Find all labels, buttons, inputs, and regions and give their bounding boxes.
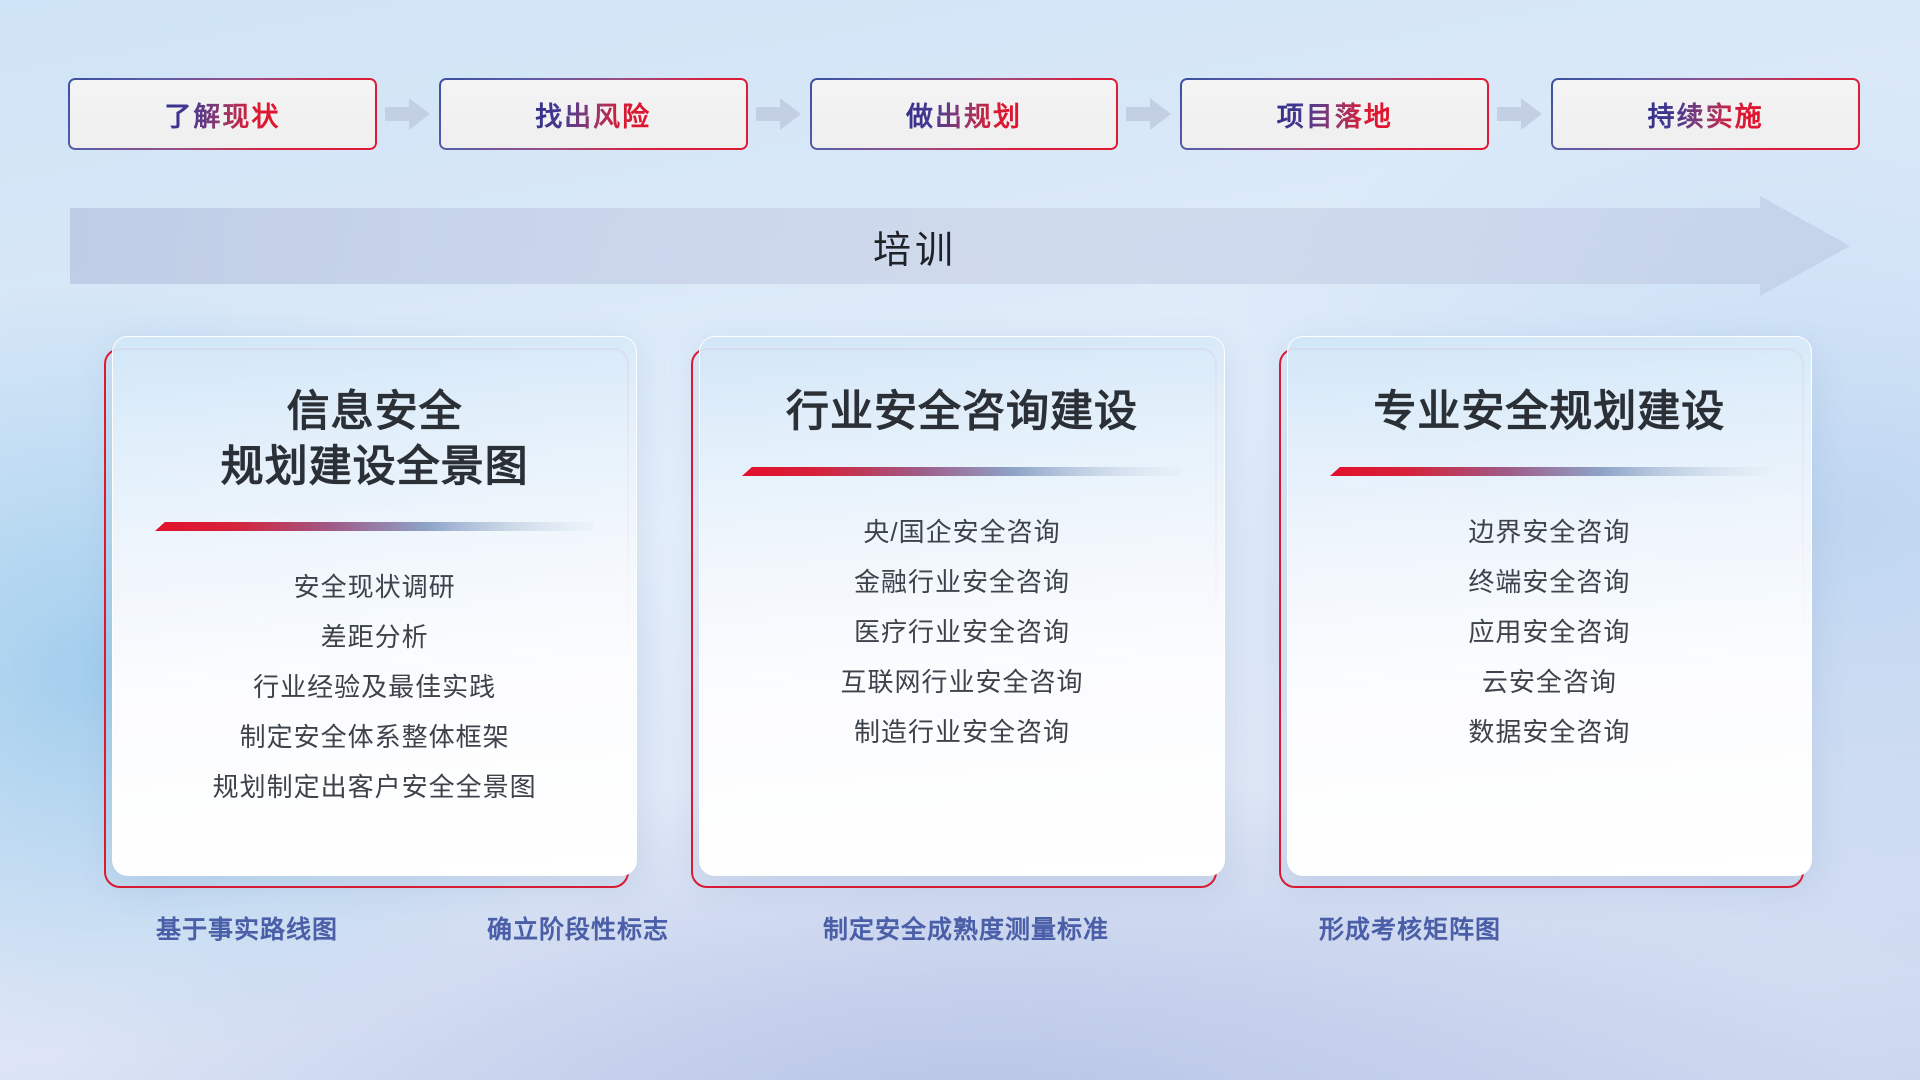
step-label-5: 持续实施 [1648, 95, 1764, 134]
list-item[interactable]: 医疗行业安全咨询 [700, 607, 1223, 657]
card-title-3: 专业安全规划建设 [1373, 385, 1725, 440]
list-item[interactable]: 应用安全咨询 [1288, 607, 1811, 657]
step-connector-3 [1118, 94, 1180, 134]
card-3[interactable]: 专业安全规划建设边界安全咨询终端安全咨询应用安全咨询云安全咨询数据安全咨询 [1287, 336, 1812, 876]
card-list-2: 央/国企安全咨询金融行业安全咨询医疗行业安全咨询互联网行业安全咨询制造行业安全咨… [700, 507, 1223, 757]
list-item[interactable]: 金融行业安全咨询 [700, 557, 1223, 607]
card-divider-3 [1330, 466, 1770, 477]
card-body-3: 专业安全规划建设边界安全咨询终端安全咨询应用安全咨询云安全咨询数据安全咨询 [1287, 336, 1812, 876]
card-2[interactable]: 行业安全咨询建设央/国企安全咨询金融行业安全咨询医疗行业安全咨询互联网行业安全咨… [699, 336, 1224, 876]
caption-row: 基于事实路线图确立阶段性标志制定安全成熟度测量标准形成考核矩阵图 [0, 910, 1920, 970]
card-divider-2 [742, 466, 1182, 477]
card-body-2: 行业安全咨询建设央/国企安全咨询金融行业安全咨询医疗行业安全咨询互联网行业安全咨… [699, 336, 1224, 876]
list-item[interactable]: 数据安全咨询 [1288, 707, 1811, 757]
list-item[interactable]: 制定安全体系整体框架 [113, 712, 636, 762]
list-item[interactable]: 差距分析 [113, 612, 636, 662]
step-connector-2 [748, 94, 810, 134]
list-item[interactable]: 云安全咨询 [1288, 657, 1811, 707]
step-box-2[interactable]: 找出风险 [439, 78, 748, 150]
card-title-1: 信息安全 规划建设全景图 [221, 385, 529, 495]
list-item[interactable]: 行业经验及最佳实践 [113, 662, 636, 712]
caption-1: 基于事实路线图 [156, 910, 338, 946]
card-body-1: 信息安全 规划建设全景图安全现状调研差距分析行业经验及最佳实践制定安全体系整体框… [112, 336, 637, 876]
slide-canvas: 了解现状找出风险做出规划项目落地持续实施 培训 信息安全 规划建设全景图安全现状… [0, 0, 1920, 1080]
caption-3: 制定安全成熟度测量标准 [823, 910, 1109, 946]
banner-title: 培训 [70, 196, 1850, 296]
step-box-3[interactable]: 做出规划 [810, 78, 1119, 150]
card-list-3: 边界安全咨询终端安全咨询应用安全咨询云安全咨询数据安全咨询 [1288, 507, 1811, 757]
list-item[interactable]: 规划制定出客户安全全景图 [113, 762, 636, 812]
gradient-underline-icon [1330, 466, 1770, 477]
step-label-1: 了解现状 [164, 95, 280, 134]
step-box-5[interactable]: 持续实施 [1551, 78, 1860, 150]
card-divider-1 [155, 521, 595, 532]
step-label-3: 做出规划 [906, 95, 1022, 134]
right-arrow-icon [1126, 97, 1172, 131]
step-label-4: 项目落地 [1277, 95, 1393, 134]
caption-4: 形成考核矩阵图 [1319, 910, 1501, 946]
list-item[interactable]: 终端安全咨询 [1288, 557, 1811, 607]
list-item[interactable]: 安全现状调研 [113, 562, 636, 612]
card-1[interactable]: 信息安全 规划建设全景图安全现状调研差距分析行业经验及最佳实践制定安全体系整体框… [112, 336, 637, 876]
card-row: 信息安全 规划建设全景图安全现状调研差距分析行业经验及最佳实践制定安全体系整体框… [112, 336, 1812, 876]
step-box-1[interactable]: 了解现状 [68, 78, 377, 150]
list-item[interactable]: 互联网行业安全咨询 [700, 657, 1223, 707]
step-connector-4 [1489, 94, 1551, 134]
right-arrow-icon [1497, 97, 1543, 131]
training-banner: 培训 [70, 196, 1850, 296]
step-label-2: 找出风险 [535, 95, 651, 134]
caption-2: 确立阶段性标志 [487, 910, 669, 946]
gradient-underline-icon [155, 521, 595, 532]
step-connector-1 [377, 94, 439, 134]
process-steps: 了解现状找出风险做出规划项目落地持续实施 [68, 78, 1860, 150]
list-item[interactable]: 边界安全咨询 [1288, 507, 1811, 557]
card-title-2: 行业安全咨询建设 [786, 385, 1138, 440]
card-list-1: 安全现状调研差距分析行业经验及最佳实践制定安全体系整体框架规划制定出客户安全全景… [113, 562, 636, 812]
right-arrow-icon [385, 97, 431, 131]
step-box-4[interactable]: 项目落地 [1180, 78, 1489, 150]
right-arrow-icon [756, 97, 802, 131]
gradient-underline-icon [742, 466, 1182, 477]
list-item[interactable]: 央/国企安全咨询 [700, 507, 1223, 557]
list-item[interactable]: 制造行业安全咨询 [700, 707, 1223, 757]
